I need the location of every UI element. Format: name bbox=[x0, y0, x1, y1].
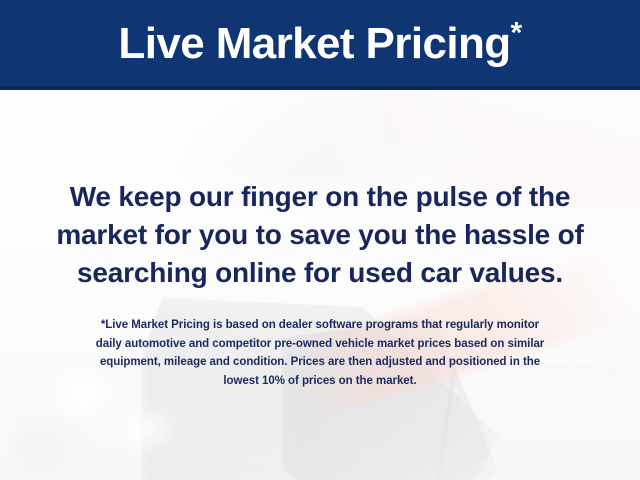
live-market-pricing-promo-card: Live Market Pricing* We keep our finger … bbox=[0, 0, 640, 480]
fineprint-line-4: lowest 10% of prices on the market. bbox=[30, 372, 610, 391]
fineprint-line-2: daily automotive and competitor pre-owne… bbox=[30, 335, 610, 354]
page-title-text: Live Market Pricing bbox=[118, 19, 510, 68]
headline-line-3: searching online for used car values. bbox=[24, 254, 616, 292]
headline-block: We keep our finger on the pulse of the m… bbox=[0, 178, 640, 292]
fineprint-line-1: *Live Market Pricing is based on dealer … bbox=[30, 316, 610, 335]
page-title: Live Market Pricing* bbox=[118, 22, 521, 68]
headline-line-2: market for you to save you the hassle of bbox=[24, 216, 616, 254]
fineprint-disclaimer: *Live Market Pricing is based on dealer … bbox=[0, 316, 640, 390]
headline-line-1: We keep our finger on the pulse of the bbox=[24, 178, 616, 216]
header-banner: Live Market Pricing* bbox=[0, 0, 640, 90]
page-title-asterisk: * bbox=[511, 16, 522, 49]
fineprint-line-3: equipment, mileage and condition. Prices… bbox=[30, 353, 610, 372]
